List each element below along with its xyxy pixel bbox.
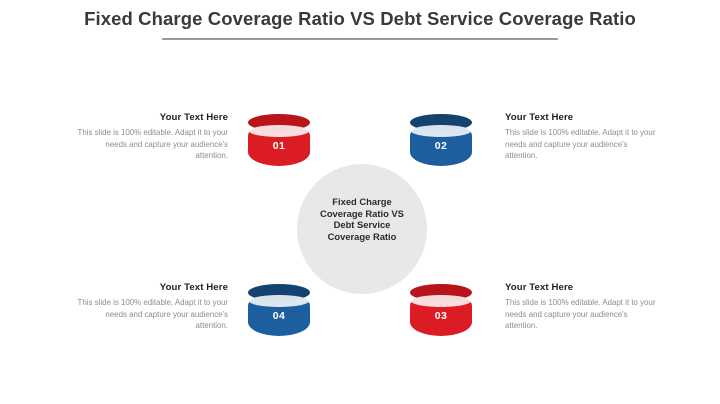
- cylinder-number: 03: [410, 310, 472, 322]
- text-block-description: This slide is 100% editable. Adapt it to…: [76, 127, 228, 162]
- text-block-description: This slide is 100% editable. Adapt it to…: [76, 297, 228, 332]
- cylinder-rim: [411, 295, 471, 307]
- text-block-description: This slide is 100% editable. Adapt it to…: [505, 297, 657, 332]
- text-block-heading: Your Text Here: [76, 282, 228, 293]
- text-block-heading: Your Text Here: [76, 112, 228, 123]
- text-block-bottom-right: Your Text Here This slide is 100% editab…: [505, 282, 657, 332]
- cylinder-rim: [249, 125, 309, 137]
- text-block-top-left: Your Text Here This slide is 100% editab…: [76, 112, 228, 162]
- text-block-description: This slide is 100% editable. Adapt it to…: [505, 127, 657, 162]
- text-block-bottom-left: Your Text Here This slide is 100% editab…: [76, 282, 228, 332]
- page-title: Fixed Charge Coverage Ratio VS Debt Serv…: [0, 8, 720, 30]
- cylinder-number: 04: [248, 310, 310, 322]
- center-label: Fixed Charge Coverage Ratio VS Debt Serv…: [297, 196, 427, 242]
- cylinder-rim: [411, 125, 471, 137]
- cylinder-node-04[interactable]: 04: [248, 284, 310, 340]
- cylinder-number: 01: [248, 140, 310, 152]
- text-block-heading: Your Text Here: [505, 282, 657, 293]
- text-block-heading: Your Text Here: [505, 112, 657, 123]
- cylinder-number: 02: [410, 140, 472, 152]
- text-block-top-right: Your Text Here This slide is 100% editab…: [505, 112, 657, 162]
- title-divider: [162, 38, 558, 40]
- cylinder-node-03[interactable]: 03: [410, 284, 472, 340]
- cylinder-node-01[interactable]: 01: [248, 114, 310, 170]
- cylinder-node-02[interactable]: 02: [410, 114, 472, 170]
- cylinder-rim: [249, 295, 309, 307]
